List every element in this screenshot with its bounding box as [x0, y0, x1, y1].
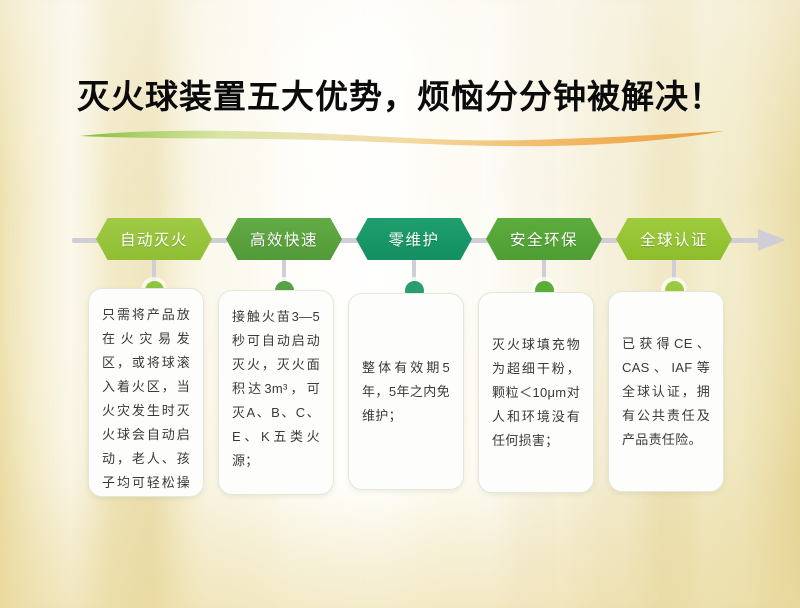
step-body-1: 只需将产品放在火灾易发区，或将球滚入着火区，当火灾发生时灭火球会自动启动，老人、… — [102, 307, 190, 497]
step-card-1: 只需将产品放在火灾易发区，或将球滚入着火区，当火灾发生时灭火球会自动启动，老人、… — [88, 288, 204, 497]
step-card-2: 接触火苗3—5秒可自动启动灭火，灭火面积达3m³，可灭A、B、C、E、K五类火源… — [218, 290, 334, 495]
step-card-3: 整体有效期5年，5年之内免维护； — [348, 293, 464, 490]
step-banner-4[interactable]: 安全环保 — [486, 218, 602, 260]
step-label-1: 自动灭火 — [120, 228, 188, 250]
arrow-right-icon — [758, 227, 786, 253]
step-banner-1[interactable]: 自动灭火 — [96, 218, 212, 260]
step-banner-5[interactable]: 全球认证 — [616, 218, 732, 260]
step-label-2: 高效快速 — [250, 228, 318, 250]
step-banner-2[interactable]: 高效快速 — [226, 218, 342, 260]
step-label-5: 全球认证 — [640, 228, 708, 250]
step-card-4: 灭火球填充物为超细干粉，颗粒＜10μm对人和环境没有任何损害； — [478, 292, 594, 493]
advantages-timeline: 自动灭火 只需将产品放在火灾易发区，或将球滚入着火区，当火灾发生时灭火球会自动启… — [0, 0, 800, 608]
step-banner-3[interactable]: 零维护 — [356, 218, 472, 260]
step-body-4: 灭火球填充物为超细干粉，颗粒＜10μm对人和环境没有任何损害； — [492, 333, 580, 453]
step-card-5: 已获得CE、CAS、IAF等全球认证，拥有公共责任及产品责任险。 — [608, 291, 724, 492]
step-body-2: 接触火苗3—5秒可自动启动灭火，灭火面积达3m³，可灭A、B、C、E、K五类火源… — [232, 309, 320, 468]
step-label-3: 零维护 — [388, 228, 439, 250]
step-body-3: 整体有效期5年，5年之内免维护； — [362, 356, 450, 428]
step-label-4: 安全环保 — [510, 228, 578, 250]
step-body-5: 已获得CE、CAS、IAF等全球认证，拥有公共责任及产品责任险。 — [622, 332, 710, 452]
